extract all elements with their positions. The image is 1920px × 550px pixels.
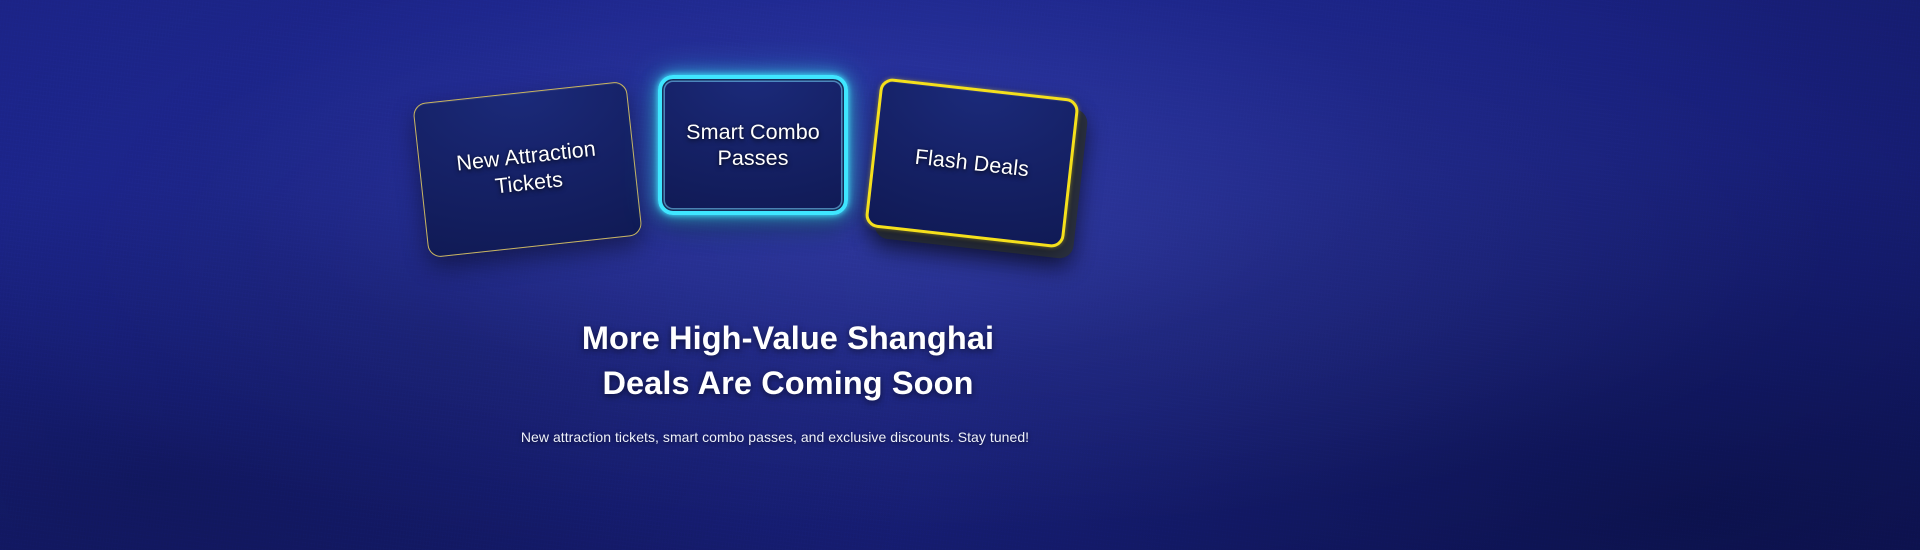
feature-card-label: Smart Combo Passes: [676, 119, 830, 171]
feature-card-flash-deals[interactable]: Flash Deals: [864, 77, 1079, 248]
banner-content: New Attraction Tickets Smart Combo Passe…: [0, 0, 1920, 550]
banner-headline: More High-Value Shanghai Deals Are Comin…: [582, 316, 994, 405]
promo-banner: New Attraction Tickets Smart Combo Passe…: [0, 0, 1920, 550]
card-slot-flash-deals: Flash Deals: [872, 88, 1072, 238]
card-slot-smart-combo-passes: Smart Combo Passes: [658, 75, 848, 215]
feature-card-label: New Attraction Tickets: [433, 133, 623, 205]
feature-card-smart-combo-passes[interactable]: Smart Combo Passes: [658, 75, 848, 215]
headline-line-1: More High-Value Shanghai: [582, 316, 994, 361]
banner-subtitle: New attraction tickets, smart combo pass…: [521, 429, 1029, 445]
card-slot-new-attraction-tickets: New Attraction Tickets: [420, 92, 635, 247]
feature-card-label: Flash Deals: [914, 144, 1031, 183]
headline-line-2: Deals Are Coming Soon: [582, 361, 994, 406]
feature-card-new-attraction-tickets[interactable]: New Attraction Tickets: [412, 81, 642, 258]
feature-card-group: New Attraction Tickets Smart Combo Passe…: [420, 70, 1120, 270]
